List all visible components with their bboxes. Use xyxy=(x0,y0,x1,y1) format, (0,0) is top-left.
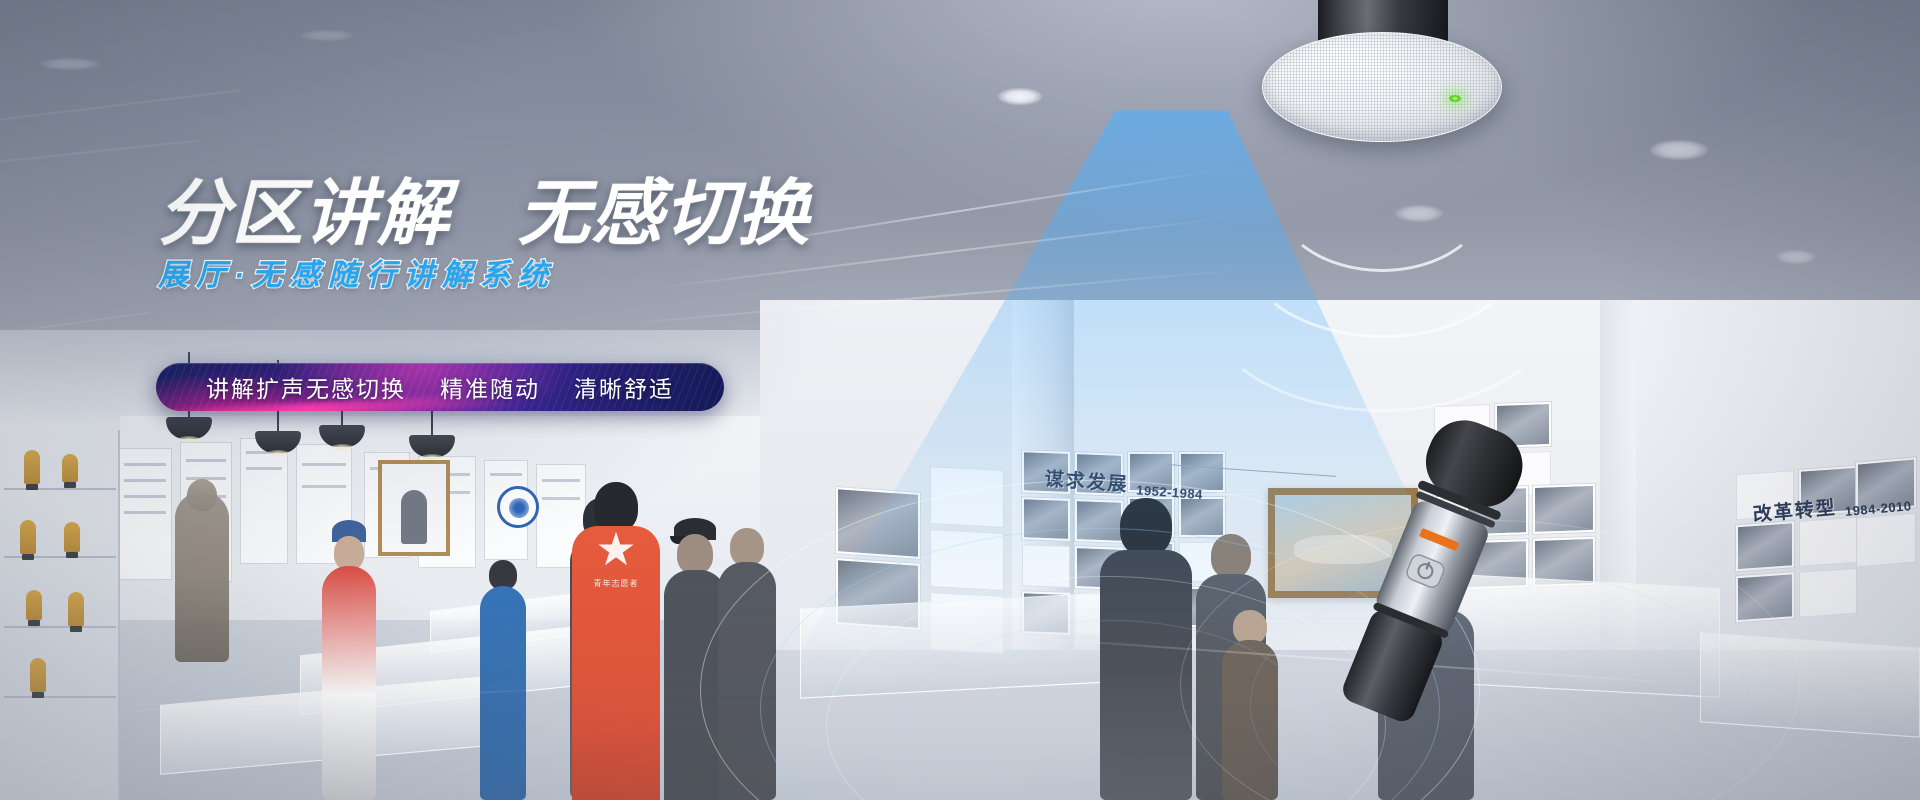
trophy-cabinet xyxy=(0,430,120,800)
ceiling-downlight-icon xyxy=(40,58,100,70)
visitor xyxy=(480,560,526,800)
feature-item-3: 清晰舒适 xyxy=(574,370,674,404)
trophy-icon xyxy=(26,590,42,620)
visitor-volunteer: ★ 青年志愿者 xyxy=(572,482,660,800)
page-title: 分区讲解 无感切换 xyxy=(158,178,878,250)
feature-item-1: 讲解扩声无感切换 xyxy=(206,370,406,404)
feature-badge-content: 讲解扩声无感切换 精准随动 清晰舒适 xyxy=(156,363,724,411)
trophy-icon xyxy=(24,450,40,484)
trophy-icon xyxy=(62,454,78,482)
ceiling-downlight-icon xyxy=(998,88,1042,105)
school-emblem-icon xyxy=(497,486,539,528)
handheld-microphone xyxy=(1320,408,1540,738)
portrait-frame xyxy=(378,460,450,556)
headline-part-1: 分区讲解 xyxy=(158,174,450,254)
ceiling-downlight-icon xyxy=(1776,250,1816,264)
headline-part-2: 无感切换 xyxy=(518,174,810,254)
ceiling-downlight-icon xyxy=(1650,140,1708,160)
trophy-icon xyxy=(30,658,46,692)
volunteer-star-emblem: ★ xyxy=(591,526,641,574)
visitor xyxy=(322,520,376,800)
trophy-icon xyxy=(68,592,84,626)
page-subtitle: 展厅·无感随行讲解系统 xyxy=(158,259,878,294)
promo-banner: 谋求发展 1952-1984 改革转型 1984-2010 ★ 青年志愿者 xyxy=(0,0,1920,800)
speaker-status-led-icon xyxy=(1449,95,1461,102)
ceiling-downlight-icon xyxy=(300,30,354,41)
feature-badge[interactable]: 讲解扩声无感切换 精准随动 清晰舒适 xyxy=(156,363,724,411)
feature-item-2: 精准随动 xyxy=(440,370,540,404)
ceiling-speaker xyxy=(1262,0,1502,146)
trophy-icon xyxy=(64,522,80,552)
trophy-icon xyxy=(20,520,36,554)
sound-wave-arc xyxy=(1200,182,1564,412)
terracotta-statue xyxy=(175,492,229,662)
volunteer-vest-caption: 青年志愿者 xyxy=(594,578,639,589)
speaker-grille xyxy=(1262,32,1502,142)
copy-block: 分区讲解 无感切换 展厅·无感随行讲解系统 xyxy=(158,178,878,294)
